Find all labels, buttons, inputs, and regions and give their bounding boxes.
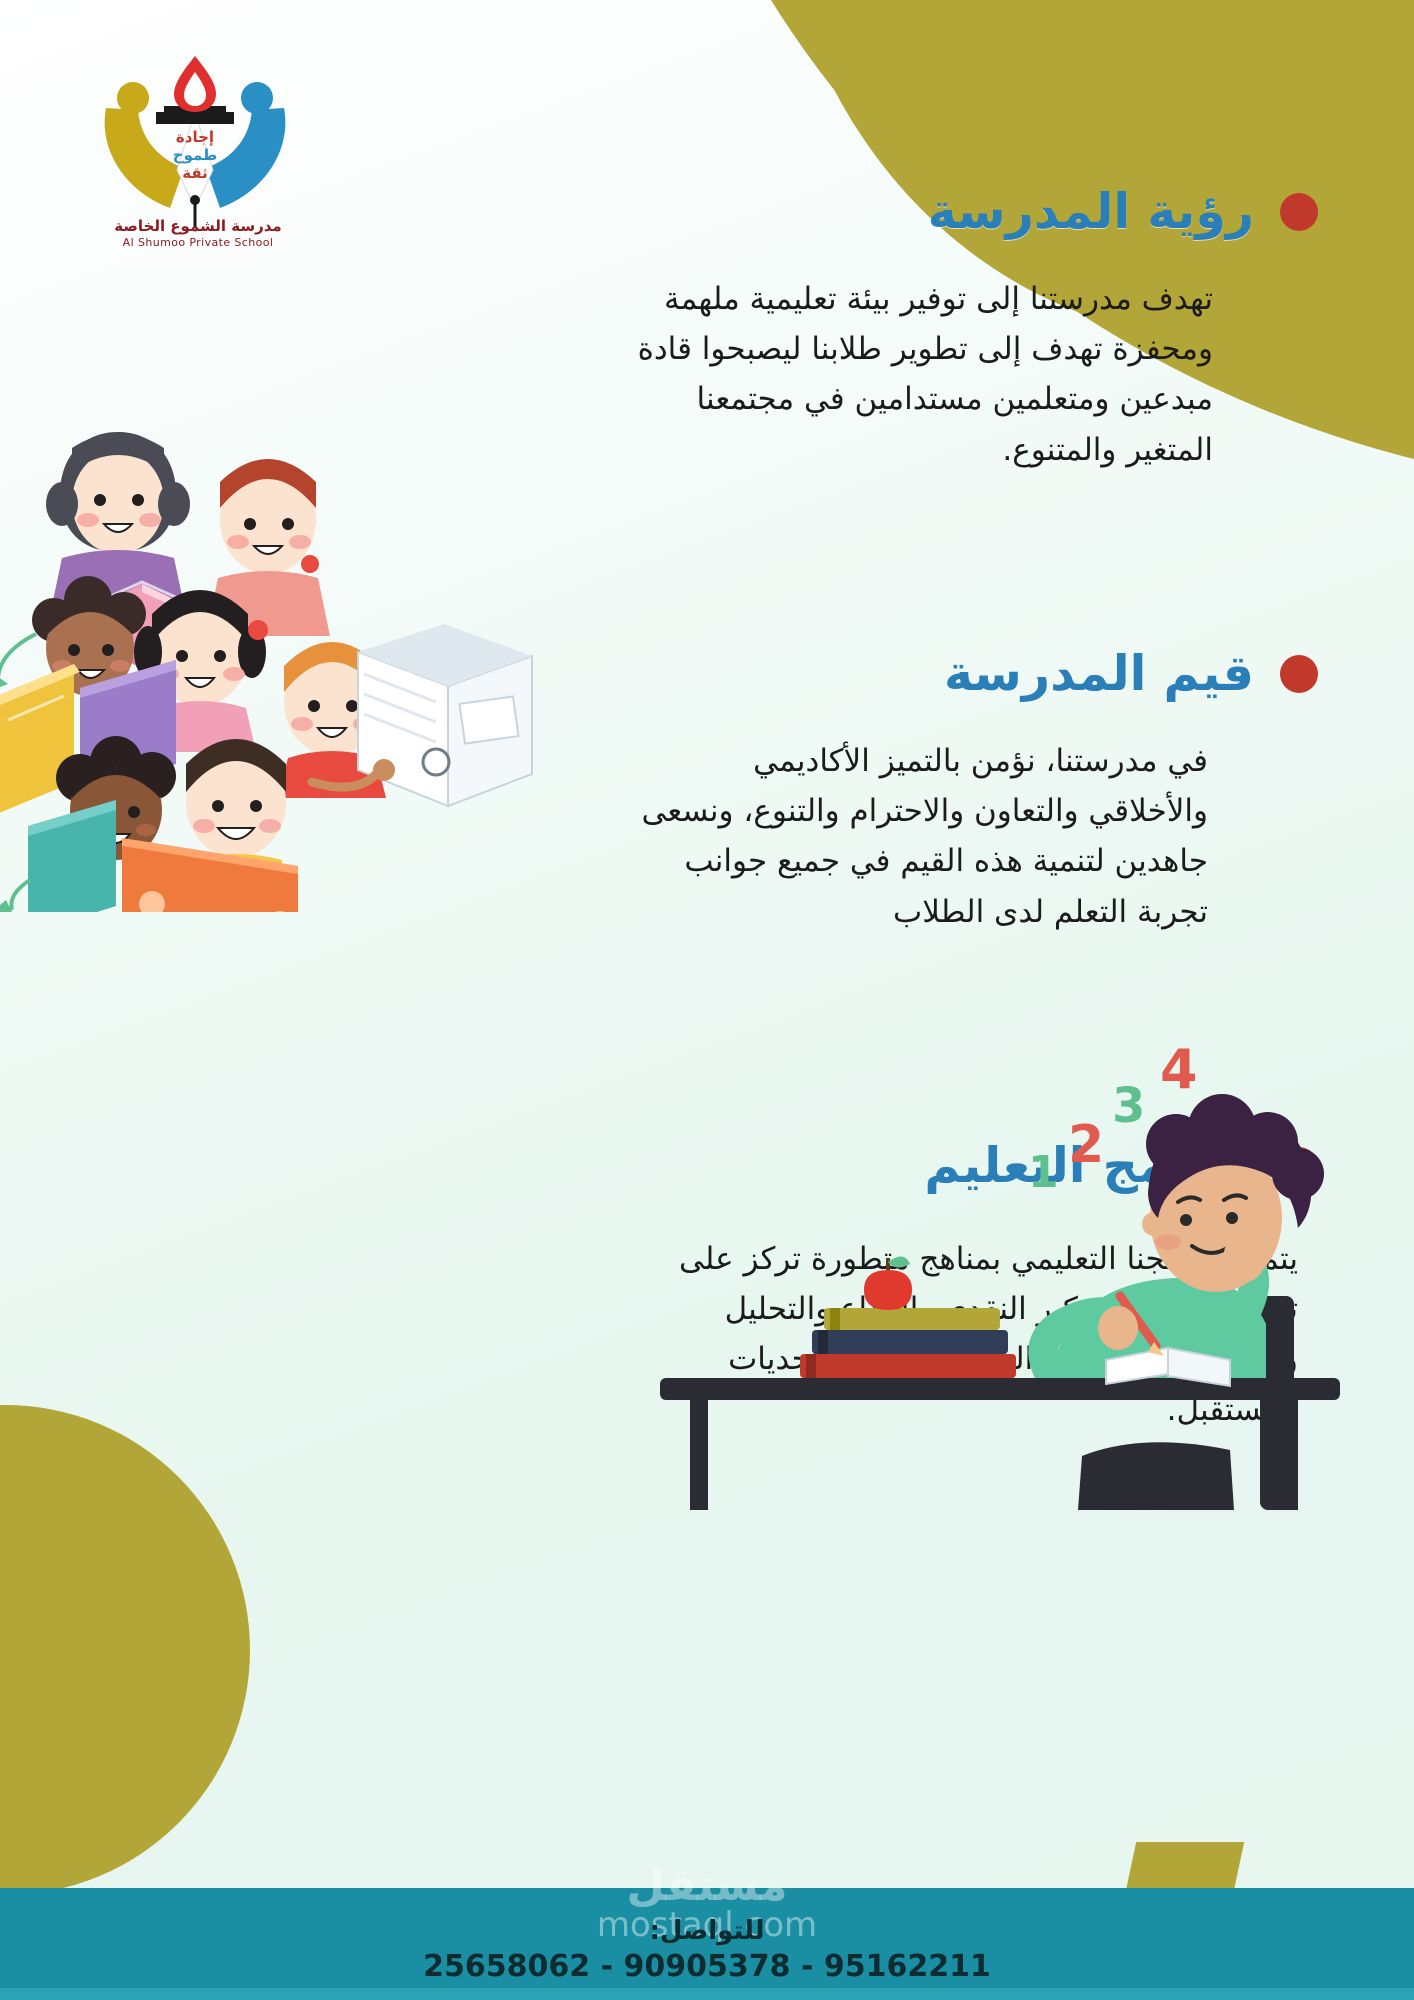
logo-motto-3: ثقة xyxy=(182,164,208,182)
section-vision-body: تهدف مدرستنا إلى توفير بيئة تعليمية ملهم… xyxy=(628,274,1213,475)
section-vision: رؤية المدرسة تهدف مدرستنا إلى توفير بيئة… xyxy=(628,183,1318,475)
student-at-desk-illustration xyxy=(620,1060,1414,1510)
logo-school-name-ar: مدرسة الشموع الخاصة xyxy=(78,218,318,235)
gold-circle-bottom-left xyxy=(0,1405,250,1895)
footer-contact-block: للتواصل: 25658062 - 90905378 - 95162211 xyxy=(0,1917,1414,1984)
school-logo: إجادة طموح ثقة مدرسة الشموع الخاصة Al Sh… xyxy=(78,50,318,250)
logo-school-name-en: Al Shumoo Private School xyxy=(78,236,318,249)
logo-motto-2: طموح xyxy=(173,146,217,164)
footer-phone-numbers[interactable]: 25658062 - 90905378 - 95162211 xyxy=(0,1949,1414,1984)
section-values-body: في مدرستنا، نؤمن بالتميز الأكاديمي والأخ… xyxy=(628,736,1208,937)
section-vision-title: رؤية المدرسة xyxy=(928,183,1254,240)
section-vision-header: رؤية المدرسة xyxy=(628,183,1318,240)
footer-bar: مستقل mostaql.com للتواصل: 25658062 - 90… xyxy=(0,1888,1414,2000)
section-values-title: قيم المدرسة xyxy=(944,645,1254,702)
book-teal xyxy=(0,800,116,912)
poster-canvas: إجادة طموح ثقة مدرسة الشموع الخاصة Al Sh… xyxy=(0,0,1414,2000)
section-values: قيم المدرسة في مدرستنا، نؤمن بالتميز الأ… xyxy=(628,645,1318,937)
footer-contact-label: للتواصل: xyxy=(0,1917,1414,1947)
bullet-dot-icon xyxy=(1280,193,1318,231)
kids-reading-books-illustration xyxy=(0,352,552,912)
footer-accent-strip xyxy=(0,1988,1414,2000)
logo-motto-1: إجادة xyxy=(176,128,214,146)
section-values-header: قيم المدرسة xyxy=(628,645,1318,702)
bullet-dot-icon xyxy=(1280,655,1318,693)
